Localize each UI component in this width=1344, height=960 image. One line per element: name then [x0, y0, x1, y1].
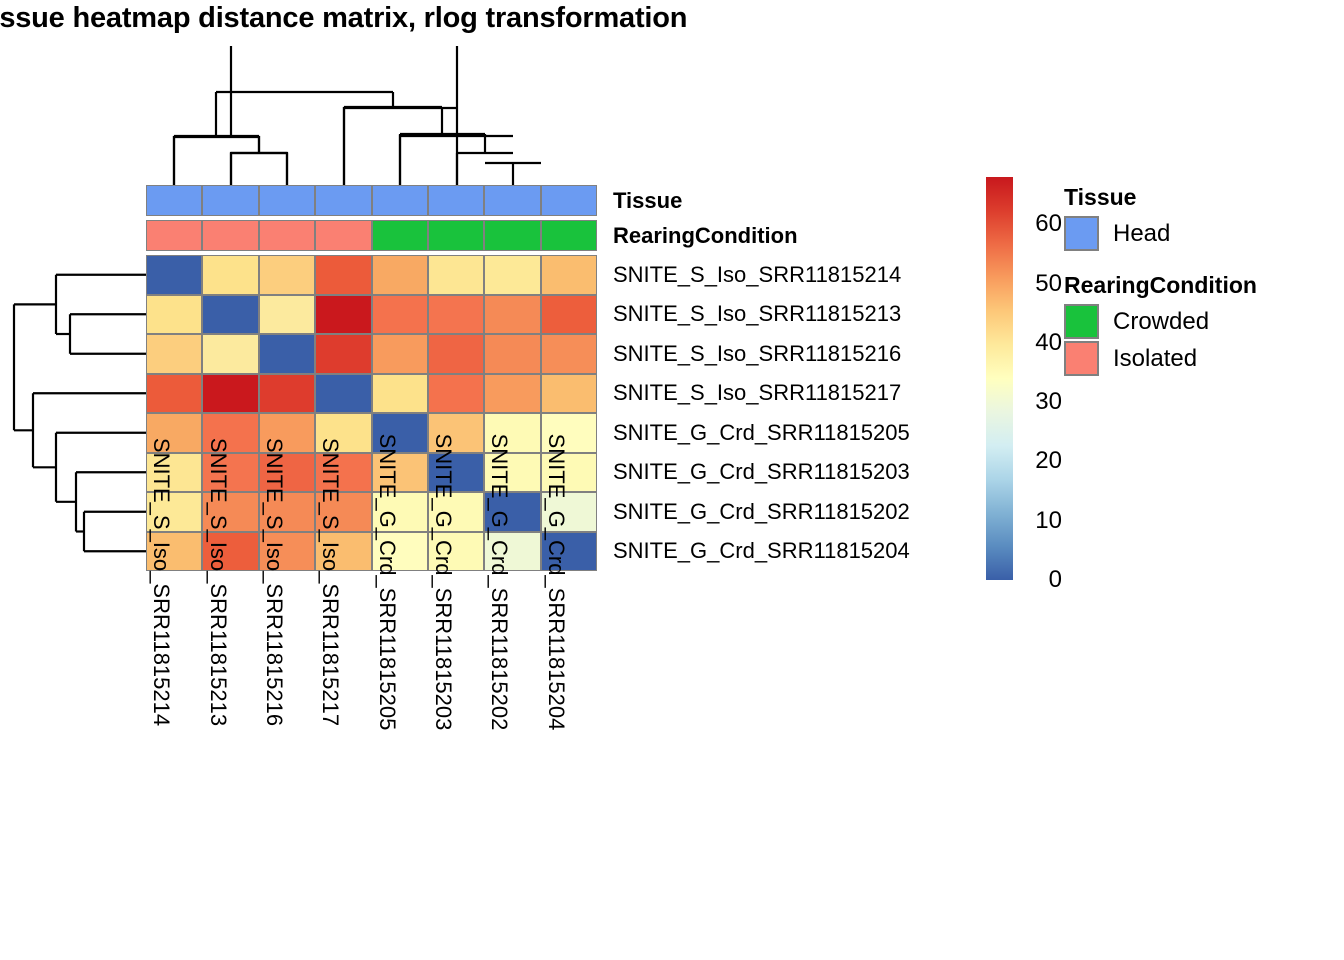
annotation-cell — [372, 220, 428, 251]
heatmap-cell — [372, 295, 428, 335]
heatmap-cell — [484, 295, 540, 335]
column-label: SNITE_G_Crd_SRR11815203 — [428, 578, 484, 958]
legend-swatch — [1064, 304, 1099, 339]
heatmap-cell — [146, 295, 202, 335]
annotation-cell — [484, 220, 540, 251]
annotation-cell — [259, 220, 315, 251]
heatmap-cell — [428, 255, 484, 295]
column-label: SNITE_S_Iso_SRR11815217 — [315, 578, 371, 958]
column-dendrogram-detail — [146, 46, 597, 185]
heatmap-cell — [484, 374, 540, 414]
heatmap-cell — [428, 295, 484, 335]
annotation-cell — [541, 185, 597, 216]
column-label: SNITE_G_Crd_SRR11815204 — [541, 578, 597, 958]
annotation-label-tissue: Tissue — [613, 188, 682, 214]
heatmap-cell — [146, 334, 202, 374]
column-label: SNITE_G_Crd_SRR11815202 — [484, 578, 540, 958]
colorbar-gradient — [986, 177, 1013, 580]
heatmap-cell — [541, 255, 597, 295]
legend-item[interactable]: Head — [1064, 215, 1170, 252]
legend-swatch — [1064, 341, 1099, 376]
annotation-cell — [315, 185, 371, 216]
annotation-cell — [259, 185, 315, 216]
annotation-cell — [484, 185, 540, 216]
legend-rearing: RearingCondition CrowdedIsolated — [1064, 272, 1257, 377]
heatmap-cell — [259, 255, 315, 295]
heatmap-cell — [428, 334, 484, 374]
annotation-row-tissue — [146, 185, 597, 216]
column-label: SNITE_S_Iso_SRR11815216 — [259, 578, 315, 958]
row-dendrogram — [8, 255, 146, 571]
heatmap-cell — [484, 334, 540, 374]
row-label-list: SNITE_S_Iso_SRR11815214SNITE_S_Iso_SRR11… — [613, 255, 1013, 571]
annotation-cell — [428, 185, 484, 216]
legend-title-tissue: Tissue — [1064, 184, 1170, 211]
colorbar-tick: 60 — [1035, 212, 1062, 236]
colorbar-tick: 20 — [1035, 449, 1062, 473]
row-label: SNITE_G_Crd_SRR11815203 — [613, 453, 1013, 493]
heatmap-cell — [202, 374, 258, 414]
heatmap-cell — [315, 334, 371, 374]
page-title: tissue heatmap distance matrix, rlog tra… — [0, 2, 687, 35]
legend-swatch — [1064, 216, 1099, 251]
heatmap-cell — [202, 255, 258, 295]
legend-title-rearing: RearingCondition — [1064, 272, 1257, 299]
heatmap-cell — [146, 374, 202, 414]
row-label: SNITE_S_Iso_SRR11815216 — [613, 334, 1013, 374]
colorbar-tick-labels: 6050403020100 — [1016, 177, 1062, 580]
colorbar-tick: 10 — [1035, 509, 1062, 533]
heatmap-cell — [372, 374, 428, 414]
row-label: SNITE_G_Crd_SRR11815205 — [613, 413, 1013, 453]
heatmap-cell — [484, 255, 540, 295]
colorbar-tick: 0 — [1049, 568, 1062, 592]
heatmap-cell — [315, 255, 371, 295]
annotation-cell — [541, 220, 597, 251]
row-label: SNITE_S_Iso_SRR11815214 — [613, 255, 1013, 295]
annotation-cell — [146, 185, 202, 216]
row-label: SNITE_S_Iso_SRR11815217 — [613, 374, 1013, 414]
legend-label: Isolated — [1113, 345, 1197, 373]
annotation-cell — [428, 220, 484, 251]
column-label-list: SNITE_S_Iso_SRR11815214SNITE_S_Iso_SRR11… — [146, 578, 597, 958]
heatmap-cell — [202, 295, 258, 335]
heatmap-cell — [541, 334, 597, 374]
heatmap-cell — [372, 334, 428, 374]
annotation-cell — [202, 220, 258, 251]
heatmap-cell — [428, 374, 484, 414]
legend-tissue: Tissue Head — [1064, 184, 1170, 252]
annotation-cell — [202, 185, 258, 216]
annotation-cell — [315, 220, 371, 251]
heatmap-cell — [372, 255, 428, 295]
heatmap-cell — [259, 295, 315, 335]
heatmap-cell — [146, 255, 202, 295]
heatmap-cell — [315, 374, 371, 414]
annotation-cell — [372, 185, 428, 216]
heatmap-cell — [259, 374, 315, 414]
row-label: SNITE_S_Iso_SRR11815213 — [613, 295, 1013, 335]
heatmap-cell — [541, 295, 597, 335]
row-label: SNITE_G_Crd_SRR11815202 — [613, 492, 1013, 532]
legend-item[interactable]: Isolated — [1064, 340, 1257, 377]
heatmap-cell — [541, 374, 597, 414]
column-label: SNITE_S_Iso_SRR11815213 — [202, 578, 258, 958]
column-label: SNITE_G_Crd_SRR11815205 — [372, 578, 428, 958]
column-label: SNITE_S_Iso_SRR11815214 — [146, 578, 202, 958]
legend-label: Crowded — [1113, 308, 1209, 336]
legend-label: Head — [1113, 220, 1170, 248]
colorbar-tick: 40 — [1035, 331, 1062, 355]
heatmap-figure: tissue heatmap distance matrix, rlog tra… — [0, 0, 1344, 960]
row-label: SNITE_G_Crd_SRR11815204 — [613, 532, 1013, 572]
colorbar-tick: 50 — [1035, 272, 1062, 296]
heatmap-cell — [259, 334, 315, 374]
colorbar-tick: 30 — [1035, 390, 1062, 414]
annotation-row-rearing — [146, 220, 597, 251]
annotation-label-rearing: RearingCondition — [613, 223, 798, 249]
heatmap-cell — [315, 295, 371, 335]
legend-item[interactable]: Crowded — [1064, 303, 1257, 340]
heatmap-cell — [202, 334, 258, 374]
annotation-cell — [146, 220, 202, 251]
